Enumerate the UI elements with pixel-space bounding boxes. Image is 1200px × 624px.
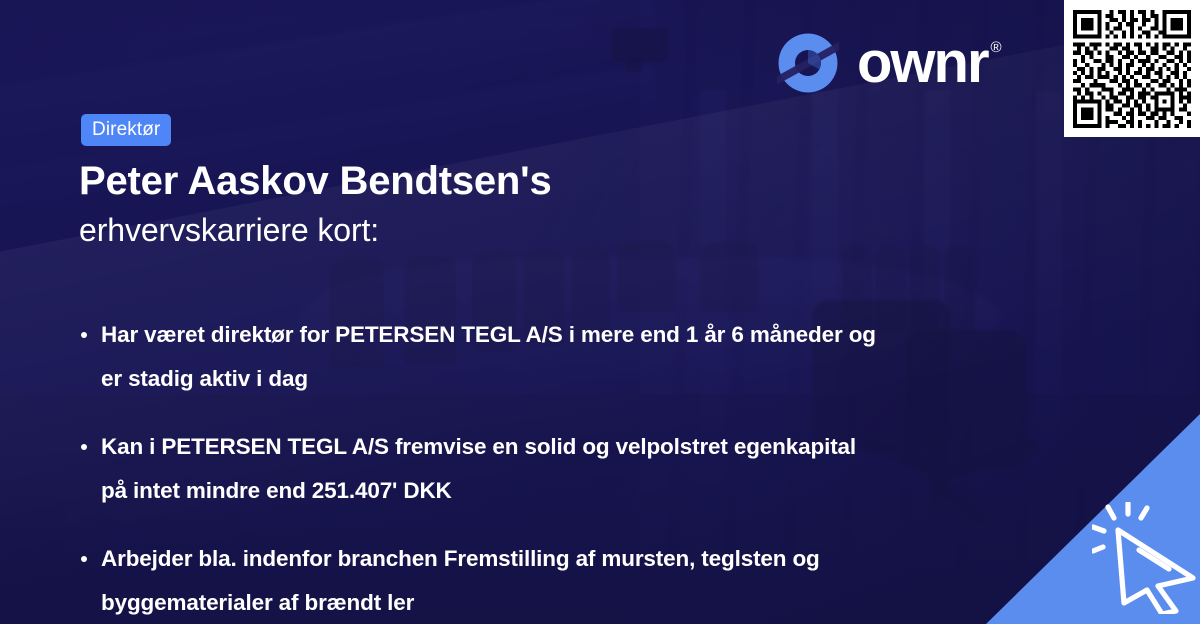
headline-name: Peter Aaskov Bendtsen's [79, 155, 779, 207]
ownr-wordmark: ownr ® [857, 34, 1002, 92]
wordmark-text: ownr [857, 34, 988, 92]
career-bullet-list: Har været direktør for PETERSEN TEGL A/S… [80, 313, 880, 624]
qr-code-image [1073, 10, 1191, 128]
list-item: Kan i PETERSEN TEGL A/S fremvise en soli… [80, 425, 880, 513]
list-item-text: Har været direktør for PETERSEN TEGL A/S… [101, 322, 876, 391]
role-badge: Direktør [81, 114, 171, 146]
ownr-logo[interactable]: ownr ® [777, 32, 1002, 94]
list-item-text: Kan i PETERSEN TEGL A/S fremvise en soli… [101, 434, 856, 503]
ownr-mark-icon [777, 32, 839, 94]
registered-trademark-icon: ® [991, 38, 1002, 58]
cursor-click-icon [1092, 502, 1200, 614]
list-item: Arbejder bla. indenfor branchen Fremstil… [80, 537, 880, 624]
card-content: Direktør Peter Aaskov Bendtsen's erhverv… [0, 0, 1200, 624]
bullet-dot-icon [81, 332, 87, 338]
page-title: Peter Aaskov Bendtsen's erhvervskarriere… [79, 155, 779, 253]
bullet-dot-icon [81, 444, 87, 450]
qr-code[interactable] [1064, 0, 1200, 137]
list-item-text: Arbejder bla. indenfor branchen Fremstil… [101, 546, 820, 615]
bullet-dot-icon [81, 556, 87, 562]
list-item: Har været direktør for PETERSEN TEGL A/S… [80, 313, 880, 401]
business-card: Direktør Peter Aaskov Bendtsen's erhverv… [0, 0, 1200, 624]
headline-subtitle: erhvervskarriere kort: [79, 207, 779, 253]
